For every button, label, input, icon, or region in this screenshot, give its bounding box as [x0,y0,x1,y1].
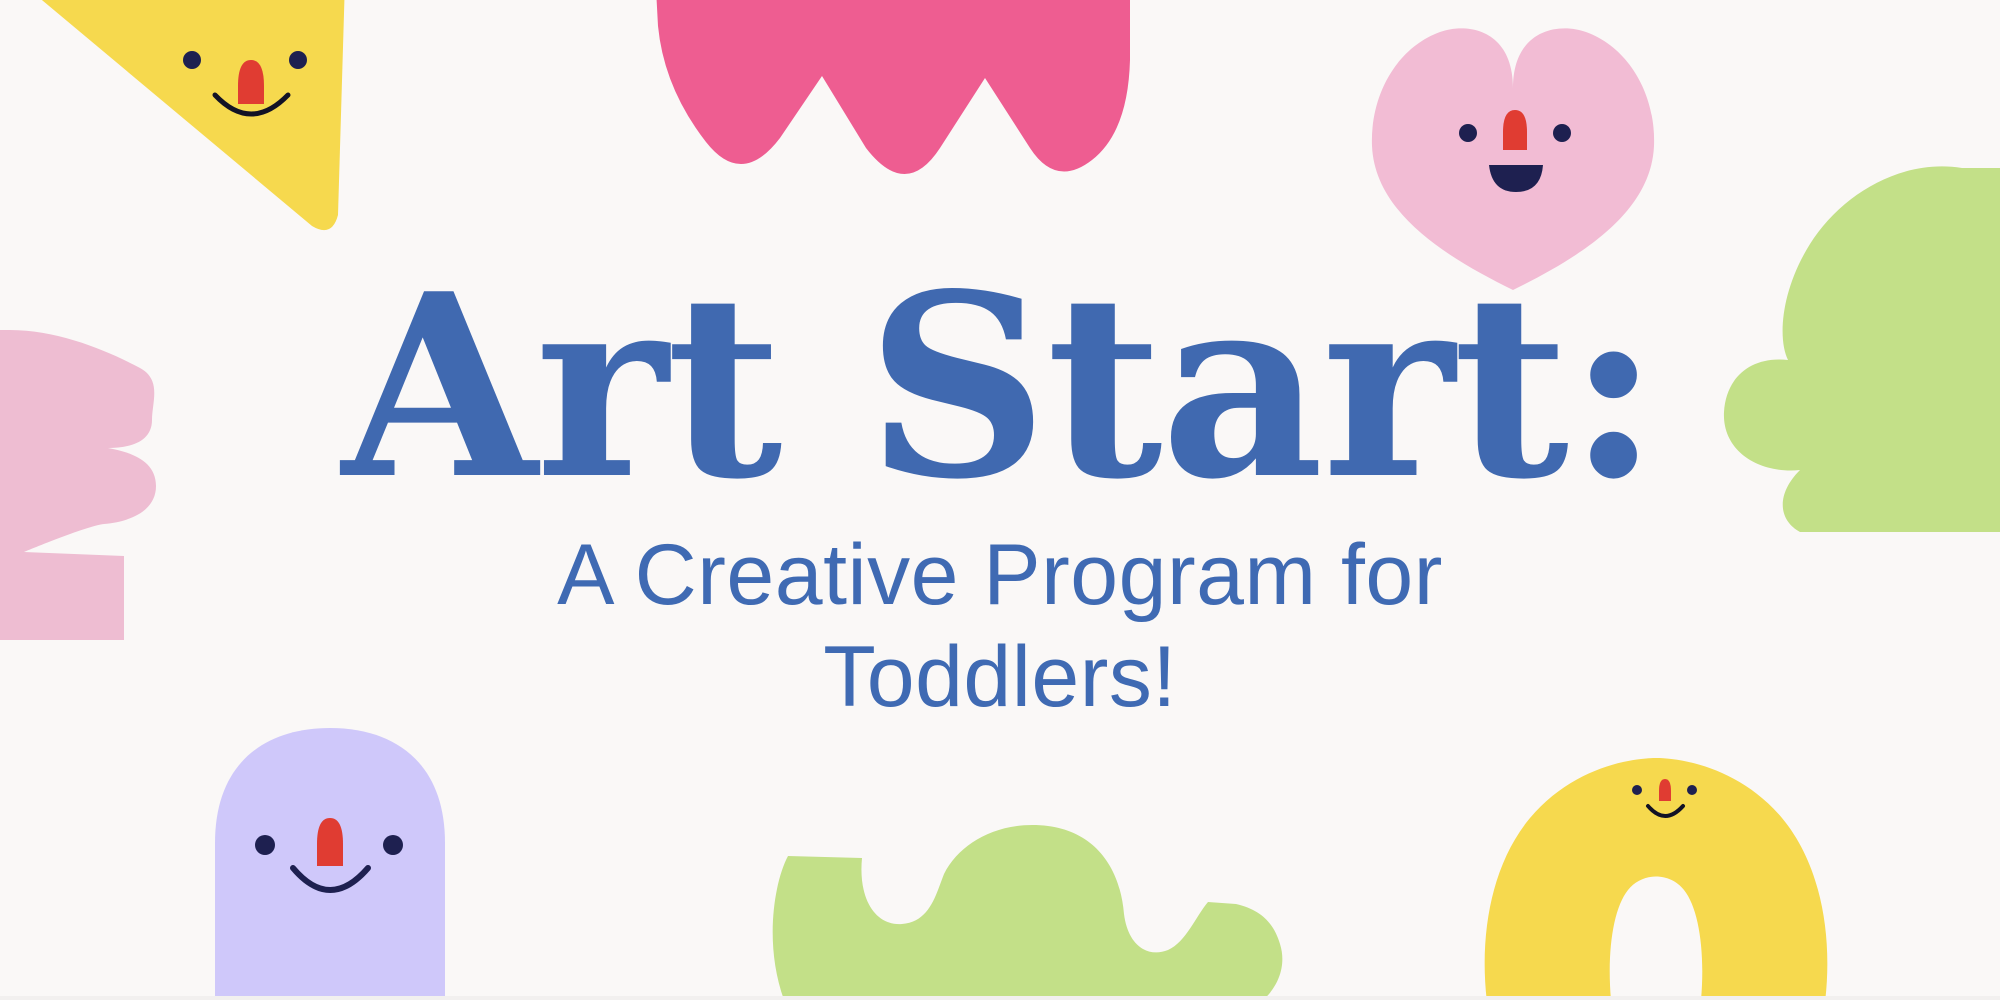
purple-arch-character [215,728,445,1000]
green-wave-bottom [773,825,1283,1000]
yellow-rainbow-arch-shape [1485,758,1828,1000]
yellow-triangle-shape [18,0,345,230]
yellow-triangle-eye-left [183,51,201,69]
yellow-rainbow-arch-character [1485,758,1828,1000]
yellow-triangle-eye-right [289,51,307,69]
pink-blob-left-shape [0,330,156,640]
yellow-arch-nose [1659,779,1671,801]
pink-heart-character [1372,28,1654,290]
yellow-arch-eye-left [1632,785,1642,795]
green-wave-bottom-shape [773,825,1283,1000]
purple-arch-eye-left [255,835,275,855]
pink-heart-eye-left [1459,124,1477,142]
green-blob-right [1724,166,2000,532]
bottom-edge-strip [0,996,2000,1000]
pink-blob-left [0,330,156,640]
purple-arch-nose [317,818,343,866]
yellow-triangle-character [18,0,345,230]
pink-heart-shape [1372,28,1654,290]
pink-heart-eye-right [1553,124,1571,142]
green-blob-right-tab [1966,200,2000,300]
green-blob-right-shape [1724,166,2000,532]
yellow-triangle-nose [238,60,264,104]
decorative-shapes-layer [0,0,2000,1000]
purple-arch-eye-right [383,835,403,855]
yellow-arch-eye-right [1687,785,1697,795]
poster-canvas: Art Start: A Creative Program for Toddle… [0,0,2000,1000]
pink-scallop-character [655,0,1130,174]
pink-scallop-shape [655,0,1130,174]
pink-heart-nose [1503,110,1527,150]
